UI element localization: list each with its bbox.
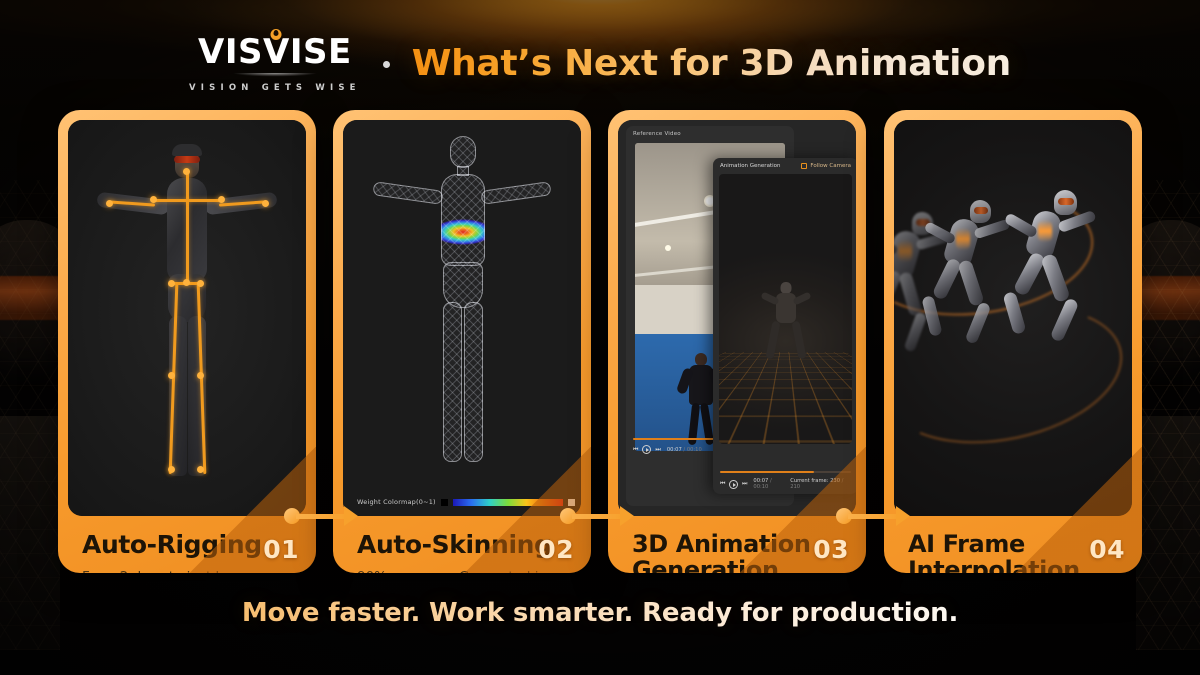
- logo-dot-icon: [271, 29, 282, 40]
- prev-frame-icon[interactable]: ⏮: [720, 481, 725, 487]
- viewport-3d[interactable]: [719, 174, 852, 444]
- viewport-grid: [719, 352, 852, 444]
- generation-panel-title: Animation Generation: [720, 163, 780, 169]
- infographic-stage: VISVISE VISION GETS WISE What’s Next for…: [0, 0, 1200, 675]
- legend-swatch-min: [441, 499, 448, 506]
- header: VISVISE VISION GETS WISE What’s Next for…: [0, 32, 1200, 94]
- camera-icon: [801, 163, 807, 169]
- card-3d-animation-generation[interactable]: Reference Video ⏮ ⏭: [608, 110, 866, 573]
- separator-dot: [383, 61, 390, 68]
- brand-wordmark: VISVISE: [198, 35, 352, 69]
- cards-row: Auto-Rigging From 2 days to just hours. …: [0, 110, 1200, 575]
- animation-generation-panel[interactable]: Animation Generation Follow Camera: [713, 158, 856, 494]
- follow-camera-label[interactable]: Follow Camera: [810, 163, 851, 169]
- card-auto-rigging[interactable]: Auto-Rigging From 2 days to just hours. …: [58, 110, 316, 573]
- reference-timecode: 00:07 / 00:10: [667, 447, 702, 453]
- connector-arrow-2: [560, 505, 634, 527]
- play-pause-icon[interactable]: [729, 480, 738, 489]
- reference-panel-title: Reference Video: [626, 126, 794, 137]
- connector-arrow-1: [284, 505, 358, 527]
- card-ai-frame-interpolation[interactable]: AI Frame Interpolation Realistic, detail…: [884, 110, 1142, 573]
- connector-arrow-3: [836, 505, 910, 527]
- footer-tagline: Move faster. Work smarter. Ready for pro…: [0, 598, 1200, 628]
- card-step-number: 04: [1089, 535, 1125, 564]
- prev-frame-icon[interactable]: ⏮: [633, 447, 638, 453]
- play-pause-icon[interactable]: [642, 445, 651, 454]
- card-step-number: 02: [538, 535, 574, 564]
- page-title: What’s Next for 3D Animation: [412, 43, 1011, 84]
- card-auto-skinning[interactable]: Weight Colormap(0~1) Auto-Skinning 90% a…: [333, 110, 591, 573]
- card-step-number: 01: [263, 535, 299, 564]
- brand-logo: VISVISE VISION GETS WISE: [189, 33, 361, 93]
- legend-label: Weight Colormap(0~1): [357, 498, 436, 506]
- brand-tagline: VISION GETS WISE: [189, 83, 361, 93]
- weight-heatmap: [441, 190, 485, 274]
- logo-shine: [220, 73, 330, 80]
- card-step-number: 03: [813, 535, 849, 564]
- next-frame-icon[interactable]: ⏭: [655, 447, 660, 453]
